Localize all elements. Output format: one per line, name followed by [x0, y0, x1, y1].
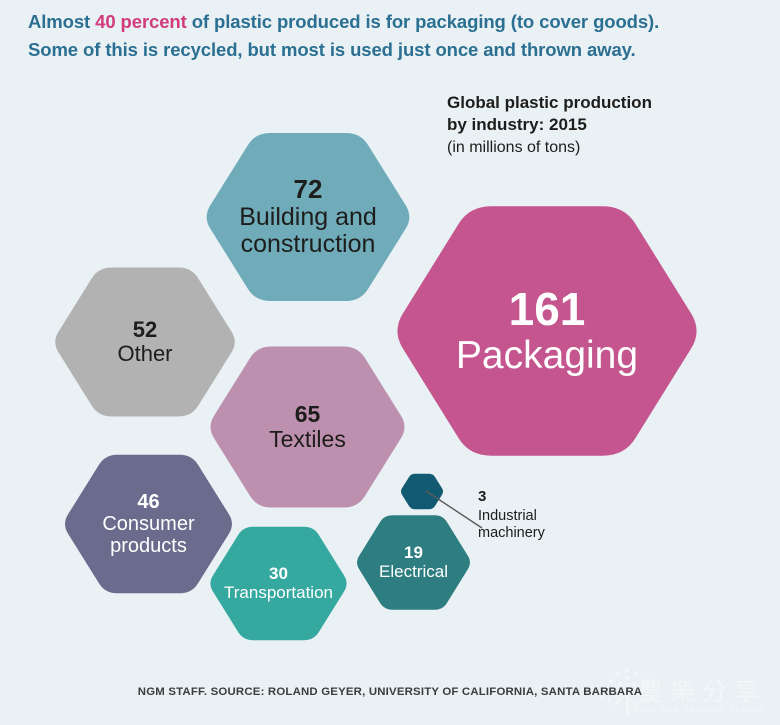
hexagon-shape	[400, 471, 444, 512]
hexagon-electrical[interactable]: 19Electrical	[355, 508, 472, 617]
hexagon-shape	[52, 256, 238, 428]
hexagon-transportation[interactable]: 30Transportation	[208, 518, 349, 649]
footer-credit: NGM STAFF. SOURCE: ROLAND GEYER, UNIVERS…	[0, 686, 780, 698]
callout-value: 3	[478, 488, 583, 506]
hexagon-shape	[392, 187, 702, 475]
callout-label: Industrial machinery	[478, 508, 583, 543]
hexagon-chart: 161Packaging72Building and construction6…	[0, 0, 780, 722]
hexagon-shape	[208, 518, 349, 649]
hexagon-shape	[355, 508, 472, 617]
hexagon-packaging[interactable]: 161Packaging	[392, 187, 702, 475]
callout-industrial-machinery: 3 Industrial machinery	[478, 488, 583, 543]
hexagon-industrial-machinery[interactable]	[400, 471, 444, 512]
hexagon-other[interactable]: 52Other	[52, 256, 238, 428]
